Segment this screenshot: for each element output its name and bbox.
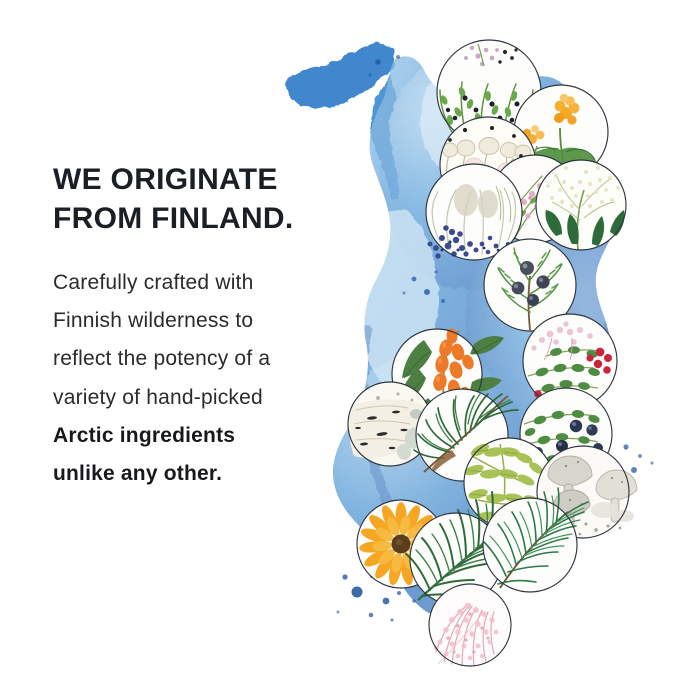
body-paragraph: Carefully crafted withFinnish wilderness…: [53, 264, 353, 493]
circle-cloudberry-flower: [514, 85, 608, 179]
body-line-5: Arctic ingredients: [53, 417, 353, 455]
circle-birch-bark: [348, 382, 434, 466]
body-line-3: reflect the potency of a: [53, 340, 353, 378]
circle-juniper-berries: [484, 239, 576, 331]
circle-meadowsweet-blossom: [536, 160, 626, 250]
circle-lingonberry-branch: [523, 314, 617, 413]
circle-spruce-sprig: [483, 488, 588, 592]
circle-pink-willowherb: [491, 155, 579, 243]
text-column: WE ORIGINATE FROM FINLAND. Carefully cra…: [53, 160, 353, 493]
circle-blue-lupine-grasses: [426, 164, 522, 260]
page-title: WE ORIGINATE FROM FINLAND.: [53, 160, 353, 238]
circle-calendula-marigold: [357, 500, 445, 588]
circle-heather-crowberry-sprigs: [437, 40, 541, 144]
circle-cotton-grass-seedheads: [440, 117, 536, 213]
paint-splatter: [337, 55, 654, 622]
body-line-4: variety of hand-picked: [53, 379, 353, 417]
body-line-1: Carefully crafted with: [53, 264, 353, 302]
circle-sea-buckthorn: [392, 328, 504, 428]
circle-pine-branch-cone: [414, 389, 518, 481]
poster-canvas: WE ORIGINATE FROM FINLAND. Carefully cra…: [0, 0, 679, 679]
body-line-2: Finnish wilderness to: [53, 302, 353, 340]
body-line-6: unlike any other.: [53, 455, 353, 493]
circle-rowan-leaves: [463, 438, 554, 528]
circle-pink-grass-plume: [429, 584, 511, 666]
circle-bilberry-blueberry: [517, 388, 612, 480]
circle-chaga-mushroom: [537, 446, 637, 538]
circle-fern-frond: [406, 492, 524, 605]
